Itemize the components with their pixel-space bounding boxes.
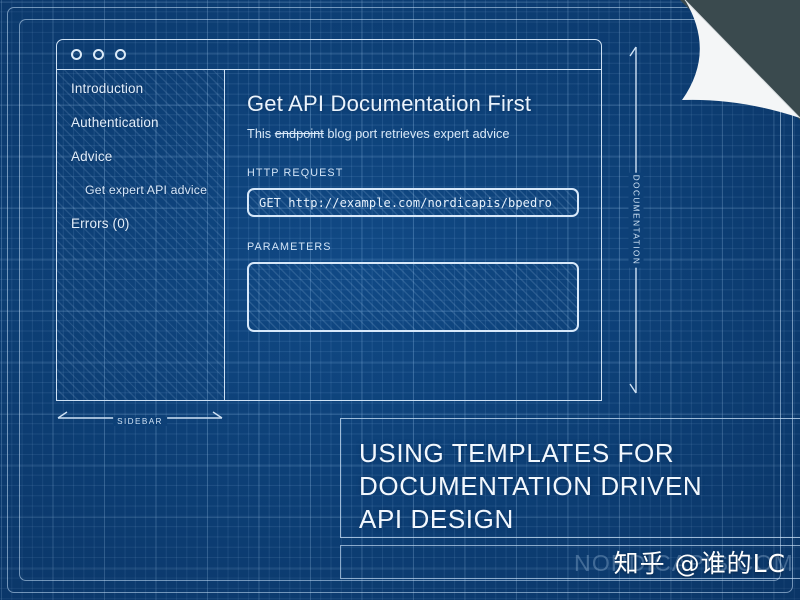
window-close-dot-icon[interactable] [71, 49, 82, 60]
parameters-label: PARAMETERS [247, 241, 579, 253]
sidebar-item-authentication[interactable]: Authentication [71, 115, 224, 130]
dimension-label-sidebar: SIDEBAR [113, 417, 167, 426]
browser-body: Introduction Authentication Advice Get e… [56, 69, 602, 401]
browser-titlebar [56, 39, 602, 70]
page-curl-corner-icon [680, 0, 800, 120]
slide-canvas: Introduction Authentication Advice Get e… [0, 0, 800, 600]
window-minimize-dot-icon[interactable] [93, 49, 104, 60]
http-request-label: HTTP REQUEST [247, 167, 579, 179]
page-subtitle: This endpoint blog port retrieves expert… [247, 126, 579, 141]
headline-line-2: DOCUMENTATION DRIVEN [359, 471, 702, 501]
dimension-line-sidebar: SIDEBAR [56, 408, 224, 432]
http-request-value: GET http://example.com/nordicapis/bpedro [259, 196, 552, 210]
sidebar-item-get-expert-api-advice[interactable]: Get expert API advice [71, 183, 224, 197]
watermark-text: 知乎 @谁的LC [614, 544, 786, 580]
subtitle-struck-word: endpoint [275, 126, 324, 141]
page-title: Get API Documentation First [247, 91, 579, 117]
sidebar-item-errors[interactable]: Errors (0) [71, 216, 224, 231]
docs-sidebar: Introduction Authentication Advice Get e… [57, 69, 225, 400]
browser-window-mockup: Introduction Authentication Advice Get e… [56, 39, 602, 401]
subtitle-prefix: This [247, 126, 275, 141]
sidebar-item-introduction[interactable]: Introduction [71, 81, 224, 96]
headline-line-3: API DESIGN [359, 504, 514, 534]
parameters-input[interactable] [247, 262, 579, 332]
sidebar-item-advice[interactable]: Advice [71, 149, 224, 164]
dimension-line-documentation: DOCUMENTATION [625, 45, 647, 395]
window-maximize-dot-icon[interactable] [115, 49, 126, 60]
http-request-input[interactable]: GET http://example.com/nordicapis/bpedro [247, 188, 579, 217]
docs-main-pane: Get API Documentation First This endpoin… [225, 69, 601, 400]
subtitle-suffix: blog port retrieves expert advice [324, 126, 510, 141]
slide-headline: USING TEMPLATES FOR DOCUMENTATION DRIVEN… [359, 437, 800, 535]
headline-panel: USING TEMPLATES FOR DOCUMENTATION DRIVEN… [340, 418, 800, 538]
headline-line-1: USING TEMPLATES FOR [359, 438, 674, 468]
dimension-label-documentation: DOCUMENTATION [629, 173, 644, 268]
